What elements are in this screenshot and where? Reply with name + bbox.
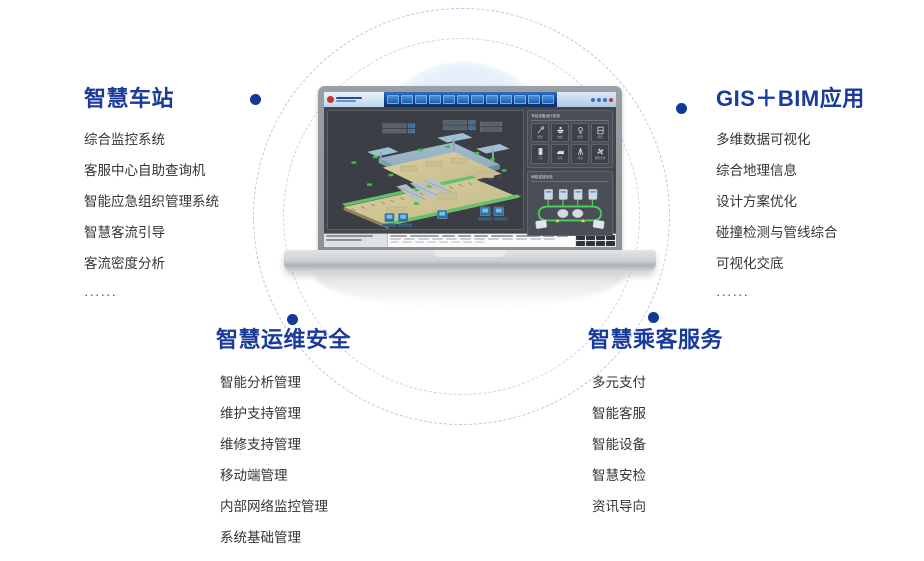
list-item: 资讯导向: [592, 499, 723, 515]
equipment-label: 门禁: [538, 157, 543, 160]
dashboard-side-panels: 车站设备运行状态 照明: [527, 110, 613, 230]
lamp-icon: [536, 126, 545, 135]
menu-item[interactable]: [429, 95, 441, 104]
section-smart-passenger-service: 智慧乘客服务 多元支付 智能客服 智能设备 智慧安检 资讯导向: [588, 327, 723, 530]
equipment-cell[interactable]: 照明: [531, 123, 549, 142]
list-item: 智能应急组织管理系统: [84, 194, 219, 210]
window-controls[interactable]: [557, 92, 616, 107]
status-indicator[interactable]: [596, 241, 605, 246]
equipment-label: 水泵: [558, 157, 563, 160]
section-gis-bim: GIS＋BIM应用 多维数据可视化 综合地理信息 设计方案优化 碰撞检测与管线综…: [716, 86, 865, 318]
metro-logo-icon: [327, 96, 334, 103]
menu-item[interactable]: [486, 95, 498, 104]
equipment-label: 通风空调: [595, 157, 605, 160]
equipment-status-panel[interactable]: 车站设备运行状态 照明: [527, 110, 613, 168]
door-icon: [536, 147, 545, 156]
equipment-cell[interactable]: 照明: [571, 123, 589, 142]
list-item: 内部网络监控管理: [220, 499, 351, 515]
section-list-smart-station: 综合监控系统 客服中心自助查询机 智能应急组织管理系统 智慧客流引导 客流密度分…: [84, 132, 219, 303]
section-list-gis-bim: 多维数据可视化 综合地理信息 设计方案优化 碰撞检测与管线综合 可视化交底 ··…: [716, 132, 865, 303]
network-topology-diagram: [531, 184, 609, 233]
list-item-more: ······: [84, 287, 219, 303]
equipment-cell[interactable]: 风机: [571, 144, 589, 163]
dashboard-top-bar: 上海地铁: [324, 92, 616, 107]
status-indicator[interactable]: [576, 241, 585, 246]
section-title-smart-ops-safety: 智慧运维安全: [216, 327, 351, 353]
equipment-cell[interactable]: 闸机: [591, 123, 609, 142]
list-item: 维护支持管理: [220, 406, 351, 422]
fan-icon: [596, 147, 605, 156]
list-item: 设计方案优化: [716, 194, 865, 210]
infographic-canvas: 智慧车站 综合监控系统 客服中心自助查询机 智能应急组织管理系统 智慧客流引导 …: [0, 0, 924, 561]
section-smart-ops-safety: 智慧运维安全 智能分析管理 维护支持管理 维修支持管理 移动端管理 内部网络监控…: [216, 327, 351, 561]
bulb-icon: [576, 126, 585, 135]
app-logo: 上海地铁: [324, 92, 384, 107]
connector-dot-bottom-right: [648, 312, 659, 323]
section-title-smart-station: 智慧车站: [84, 86, 219, 112]
list-item: 智慧客流引导: [84, 225, 219, 241]
list-item-more: ······: [716, 287, 865, 303]
equipment-cell[interactable]: 电梯: [551, 123, 569, 142]
settings-icon[interactable]: [603, 98, 607, 102]
menu-item[interactable]: [387, 95, 399, 104]
pump-icon: [556, 147, 565, 156]
menu-item[interactable]: [528, 95, 540, 104]
laptop-mockup: 上海地铁: [284, 86, 656, 286]
laptop-reflection: [314, 274, 626, 308]
menu-item[interactable]: [471, 95, 483, 104]
dashboard-body: 车站三维模型: [324, 107, 616, 233]
list-item: 智能设备: [592, 437, 723, 453]
escalator-icon: [556, 126, 565, 135]
list-item: 系统基础管理: [220, 530, 351, 546]
equipment-cell[interactable]: 门禁: [531, 144, 549, 163]
app-logo-text: [336, 97, 362, 102]
menu-item[interactable]: [457, 95, 469, 104]
minimize-icon[interactable]: [591, 98, 595, 102]
menu-item[interactable]: [500, 95, 512, 104]
menu-item[interactable]: [401, 95, 413, 104]
list-item: 多元支付: [592, 375, 723, 391]
equipment-panel-title: 车站设备运行状态: [531, 114, 609, 121]
section-smart-station: 智慧车站 综合监控系统 客服中心自助查询机 智能应急组织管理系统 智慧客流引导 …: [84, 86, 219, 318]
list-item: 综合监控系统: [84, 132, 219, 148]
station-3d-diagram: [328, 111, 523, 229]
dashboard-menu-bar: [384, 92, 557, 107]
list-item: 碰撞检测与管线综合: [716, 225, 865, 241]
status-bar-left-label: 报警信息 / 系统状态: [324, 234, 388, 247]
equipment-label: 电梯: [558, 136, 563, 139]
network-topology-svg: [531, 184, 609, 233]
table-row: [390, 241, 573, 243]
menu-item[interactable]: [542, 95, 554, 104]
equipment-cell[interactable]: 水泵: [551, 144, 569, 163]
laptop-lid: 上海地铁: [318, 86, 622, 252]
equipment-cell[interactable]: 通风空调: [591, 144, 609, 163]
list-item: 智慧安检: [592, 468, 723, 484]
list-item: 维修支持管理: [220, 437, 351, 453]
menu-item[interactable]: [443, 95, 455, 104]
close-icon[interactable]: [609, 98, 613, 102]
equipment-label: 风机: [577, 157, 582, 160]
menu-item[interactable]: [514, 95, 526, 104]
status-indicator[interactable]: [586, 241, 595, 246]
equipment-icon-grid: 照明 电梯: [531, 123, 609, 164]
list-item: 客服中心自助查询机: [84, 163, 219, 179]
menu-item[interactable]: [415, 95, 427, 104]
section-title-smart-passenger-service: 智慧乘客服务: [588, 327, 723, 353]
list-item: 可视化交底: [716, 256, 865, 272]
connector-dot-top-right: [676, 103, 687, 114]
status-indicator[interactable]: [606, 241, 615, 246]
station-3d-model-panel[interactable]: 车站三维模型: [327, 110, 524, 230]
network-status-panel[interactable]: 网络连接状态: [527, 171, 613, 237]
list-item: 多维数据可视化: [716, 132, 865, 148]
list-item: 客流密度分析: [84, 256, 219, 272]
list-item: 移动端管理: [220, 468, 351, 484]
equipment-label: 照明: [577, 136, 582, 139]
equipment-label: 闸机: [597, 136, 602, 139]
list-item: 综合地理信息: [716, 163, 865, 179]
section-list-smart-ops-safety: 智能分析管理 维护支持管理 维修支持管理 移动端管理 内部网络监控管理 系统基础…: [216, 375, 351, 546]
network-panel-title: 网络连接状态: [531, 175, 609, 182]
connector-dot-top-left: [250, 94, 261, 105]
laptop-screen: 上海地铁: [324, 92, 616, 247]
section-list-smart-passenger-service: 多元支付 智能客服 智能设备 智慧安检 资讯导向: [588, 375, 723, 515]
table-row: [390, 238, 573, 240]
equipment-label: 照明: [538, 136, 543, 139]
fan-tower-icon: [576, 147, 585, 156]
gate-icon: [596, 126, 605, 135]
list-item: 智能分析管理: [220, 375, 351, 391]
laptop-base: [284, 250, 656, 272]
connector-dot-bottom-left: [287, 314, 298, 325]
maximize-icon[interactable]: [597, 98, 601, 102]
section-title-gis-bim: GIS＋BIM应用: [716, 86, 865, 112]
list-item: 智能客服: [592, 406, 723, 422]
